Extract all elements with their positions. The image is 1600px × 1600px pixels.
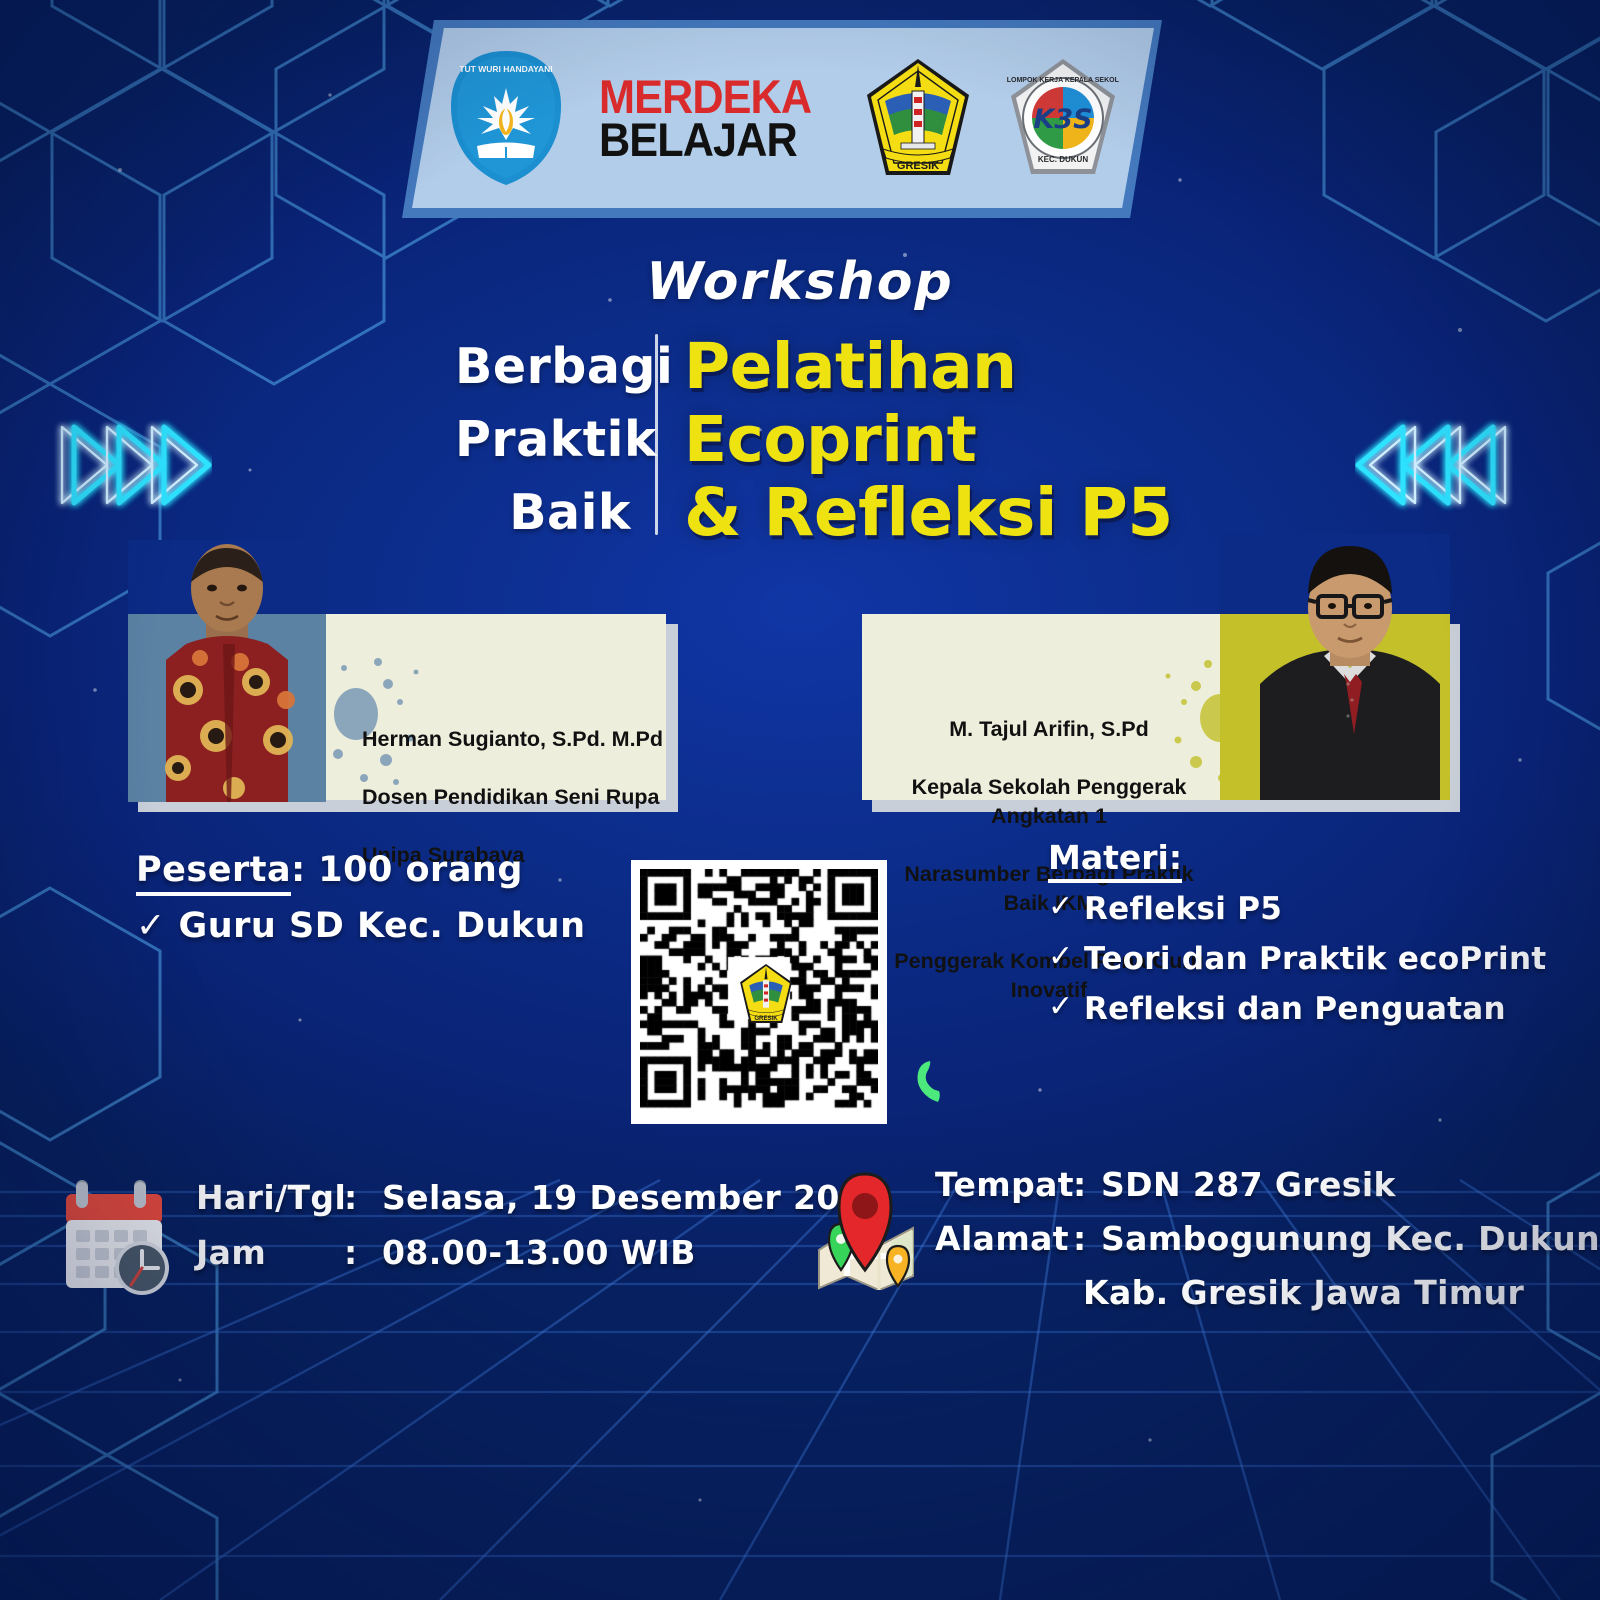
k3s-kec-dukun-logo: KELOMPOK KERJA KEPALA SEKOLAH K3S KEC. D…: [1007, 56, 1119, 180]
footer-sep: :: [1073, 1158, 1101, 1212]
footer-value-jam: 08.00-13.00 WIB: [382, 1225, 696, 1280]
footer-sep: :: [344, 1170, 382, 1225]
speaker-right-name: M. Tajul Arifin, S.Pd: [880, 715, 1218, 744]
materi-item-1: ✓ Teori dan Praktik ecoPrint: [1048, 941, 1546, 977]
tut-wuri-handayani-logo: TUT WURI HANDAYANI: [447, 48, 565, 188]
svg-text:KELOMPOK KERJA KEPALA SEKOLAH: KELOMPOK KERJA KEPALA SEKOLAH: [1007, 77, 1119, 84]
svg-text:K3S: K3S: [1034, 104, 1093, 135]
footer-value-tempat: SDN 287 Gresik: [1101, 1158, 1396, 1212]
speaker-card-right: M. Tajul Arifin, S.Pd Kepala Sekolah Pen…: [862, 614, 1450, 806]
headline-line-baik: Baik: [455, 476, 631, 549]
footer-sep: :: [344, 1225, 382, 1280]
neon-arrows-left-pointing: [1355, 415, 1515, 515]
footer-label-tempat: Tempat: [935, 1158, 1073, 1212]
calendar-clock-icon: [58, 1172, 178, 1300]
headline-line-praktik: Praktik: [455, 403, 631, 476]
peserta-heading-row: Peserta: 100 orang: [136, 850, 586, 890]
materi-block: Materi: ✓ Refleksi P5 ✓ Teori dan Prakti…: [1048, 838, 1546, 1027]
footer-label-jam: Jam: [196, 1225, 344, 1280]
check-icon: ✓: [136, 906, 166, 946]
headline-left-lines: Berbagi Praktik Baik: [455, 330, 655, 545]
merdeka-belajar-wordmark: MERDEKA BELAJAR: [599, 75, 830, 161]
eyebrow-workshop: Workshop: [0, 252, 1600, 312]
check-icon: ✓: [1048, 939, 1073, 974]
map-pin-icon: [805, 1168, 925, 1290]
footer-value-alamat-line2: Kab. Gresik Jawa Timur: [935, 1266, 1600, 1320]
footer-row-tempat: Tempat : SDN 287 Gresik: [935, 1158, 1600, 1212]
svg-text:GRESIK: GRESIK: [897, 160, 939, 172]
headline-main-lines: Pelatihan Ecoprint & Refleksi P5: [658, 330, 1173, 545]
materi-item-0-label: Refleksi P5: [1084, 891, 1282, 927]
footer-label-alamat: Alamat: [935, 1212, 1073, 1266]
svg-text:TUT WURI HANDAYANI: TUT WURI HANDAYANI: [459, 64, 552, 74]
materi-heading-row: Materi:: [1048, 838, 1546, 877]
speaker-right-role: Kepala Sekolah Penggerak Angkatan 1: [880, 773, 1218, 831]
footer-row-jam: Jam : 08.00-13.00 WIB: [196, 1225, 886, 1280]
speaker-photo-left: [128, 540, 326, 802]
materi-item-2: ✓ Refleksi dan Penguatan: [1048, 991, 1546, 1027]
peserta-block: Peserta: 100 orang ✓ Guru SD Kec. Dukun: [136, 850, 586, 946]
footer-row-alamat: Alamat : Sambogunung Kec. Dukun: [935, 1212, 1600, 1266]
check-icon: ✓: [1048, 989, 1073, 1024]
neon-arrows-right-pointing: [52, 415, 212, 515]
check-icon: ✓: [1048, 889, 1073, 924]
peserta-count: 100 orang: [318, 850, 523, 890]
footer-sep: :: [1073, 1212, 1101, 1266]
materi-item-2-label: Refleksi dan Penguatan: [1084, 991, 1506, 1027]
peserta-heading: Peserta: [136, 850, 291, 896]
main-title-line-2: Ecoprint: [684, 403, 1173, 476]
materi-item-0: ✓ Refleksi P5: [1048, 891, 1546, 927]
footer-venue-block: Tempat : SDN 287 Gresik Alamat : Sambogu…: [935, 1158, 1600, 1320]
main-title-line-1: Pelatihan: [684, 330, 1173, 403]
speaker-left-name: Herman Sugianto, S.Pd. M.Pd: [362, 725, 663, 754]
headline-block: Berbagi Praktik Baik Pelatihan Ecoprint …: [455, 330, 1275, 545]
logo-banner: TUT WURI HANDAYANI MERDEKA BELAJAR: [402, 18, 1162, 218]
footer-label-haritgl: Hari/Tgl: [196, 1170, 344, 1225]
peserta-separator: :: [291, 850, 306, 890]
footer-row-haritgl: Hari/Tgl : Selasa, 19 Desember 2023: [196, 1170, 886, 1225]
headline-line-berbagi: Berbagi: [455, 330, 631, 403]
svg-text:KEC. DUKUN: KEC. DUKUN: [1038, 155, 1088, 164]
materi-item-1-label: Teori dan Praktik ecoPrint: [1084, 941, 1546, 977]
peserta-item-0: ✓ Guru SD Kec. Dukun: [136, 906, 586, 946]
qr-center-kabupaten-gresik-logo: GRESIK: [735, 963, 797, 1025]
phone-handset-icon: [908, 1058, 942, 1106]
main-title-line-3: & Refleksi P5: [684, 476, 1173, 549]
peserta-item-label: Guru SD Kec. Dukun: [179, 906, 586, 946]
speaker-card-left: Herman Sugianto, S.Pd. M.Pd Dosen Pendid…: [128, 614, 668, 806]
svg-text:GRESIK: GRESIK: [754, 1015, 778, 1022]
merdeka-text: MERDEKA: [599, 75, 811, 118]
kabupaten-gresik-logo: GRESIK: [863, 57, 973, 179]
belajar-text: BELAJAR: [599, 118, 811, 161]
footer-value-alamat: Sambogunung Kec. Dukun: [1101, 1212, 1600, 1266]
footer-date-block: Hari/Tgl : Selasa, 19 Desember 2023 Jam …: [196, 1170, 886, 1280]
materi-heading: Materi:: [1048, 838, 1182, 883]
speaker-left-role: Dosen Pendidikan Seni Rupa: [362, 783, 663, 812]
